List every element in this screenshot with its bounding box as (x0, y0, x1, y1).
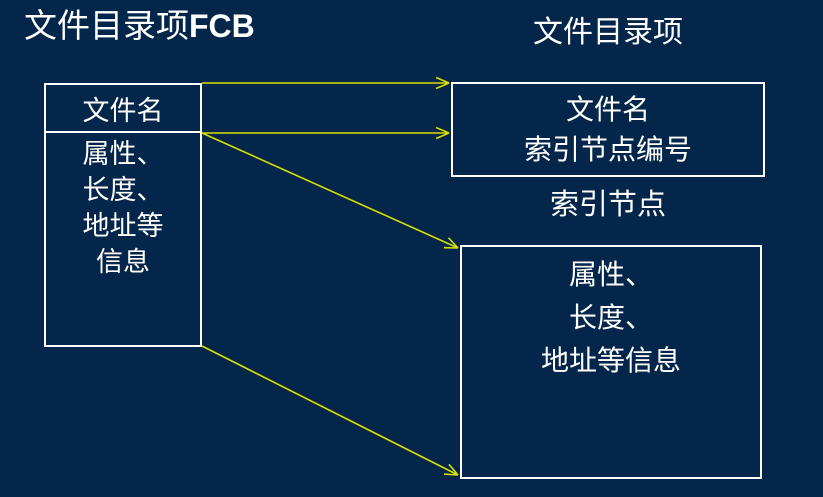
fcb-filename-text: 文件名 (83, 89, 164, 128)
inode-line: 地址等信息 (462, 339, 760, 382)
fcb-attr-line: 属性、 (46, 137, 200, 173)
fcb-attr-line: 长度、 (46, 173, 200, 209)
directory-entry-box: 文件名 索引节点编号 (451, 82, 765, 177)
fcb-attributes-cell: 属性、 长度、 地址等 信息 (46, 133, 200, 345)
inode-box: 属性、 长度、 地址等信息 (460, 245, 762, 479)
arrow-filename-to-direntry-head (436, 78, 449, 83)
arrow-divider-to-direntry-head (436, 128, 449, 133)
fcb-filename-cell: 文件名 (46, 85, 200, 133)
inode-line: 长度、 (462, 296, 760, 339)
arrow-group (202, 78, 458, 475)
fcb-attr-line: 地址等 (46, 209, 200, 245)
arrow-fcbbottom-to-inode (202, 346, 458, 475)
slide-canvas: 文件目录项FCB 文件目录项 索引节点 文件名 属性、 长度、 地址等 信息 文… (0, 0, 823, 497)
page-title-latin: FCB (189, 8, 255, 44)
arrow-divider-to-inode-head (448, 238, 458, 248)
direntry-line: 文件名 (566, 90, 650, 130)
inode-label: 索引节点 (451, 186, 765, 222)
page-title-cjk: 文件目录项 (24, 6, 189, 45)
arrow-fcbbottom-to-inode-head (449, 464, 458, 475)
page-title: 文件目录项FCB (24, 6, 255, 46)
arrow-filename-to-direntry-head (436, 83, 449, 88)
fcb-attr-line: 信息 (46, 245, 200, 281)
arrow-fcbbottom-to-inode-head (444, 474, 458, 475)
inode-line: 属性、 (462, 253, 760, 296)
direntry-line: 索引节点编号 (524, 130, 692, 170)
arrow-divider-to-direntry-head (436, 133, 449, 138)
fcb-box: 文件名 属性、 长度、 地址等 信息 (44, 83, 202, 347)
arrow-divider-to-inode (202, 133, 458, 248)
directory-entry-label: 文件目录项 (451, 14, 765, 52)
